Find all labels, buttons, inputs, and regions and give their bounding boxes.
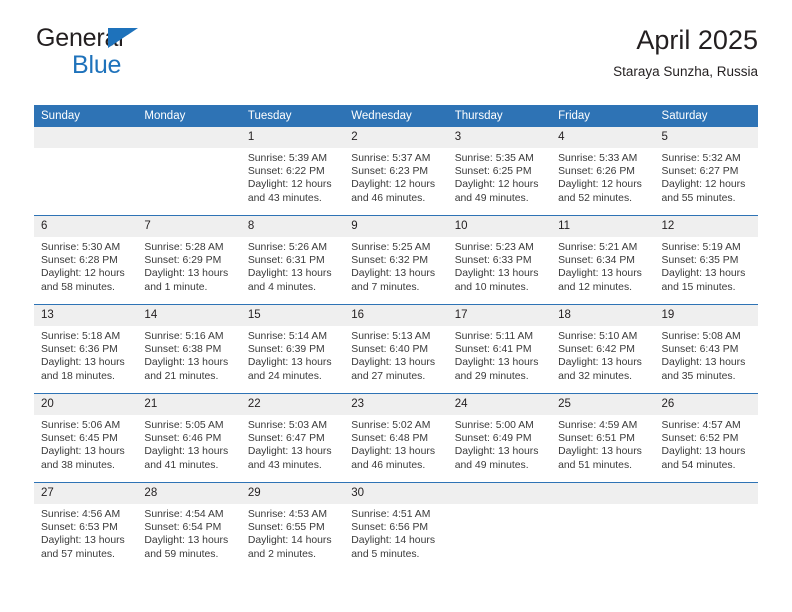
sunset-text: Sunset: 6:25 PM [455,165,543,178]
daylight-text-line1: Daylight: 13 hours [248,356,336,369]
day-number: 3 [448,127,551,148]
page-header: General Blue April 2025 Staraya Sunzha, … [34,0,758,78]
daylight-text-line2: and 52 minutes. [558,192,646,205]
day-sun-info: Sunrise: 4:57 AMSunset: 6:52 PMDaylight:… [655,415,758,472]
sunrise-text: Sunrise: 4:51 AM [351,508,439,521]
sunrise-text: Sunrise: 5:06 AM [41,419,129,432]
sunset-text: Sunset: 6:39 PM [248,343,336,356]
daylight-text-line2: and 27 minutes. [351,370,439,383]
daylight-text-line1: Daylight: 12 hours [351,178,439,191]
day-number: 10 [448,216,551,237]
sunset-text: Sunset: 6:22 PM [248,165,336,178]
sunrise-text: Sunrise: 4:57 AM [662,419,750,432]
sunset-text: Sunset: 6:56 PM [351,521,439,534]
day-sun-info: Sunrise: 5:39 AMSunset: 6:22 PMDaylight:… [241,148,344,205]
calendar-cell-empty [448,483,551,572]
sunset-text: Sunset: 6:36 PM [41,343,129,356]
sunrise-text: Sunrise: 5:11 AM [455,330,543,343]
calendar-cell-empty [551,483,654,572]
daylight-text-line2: and 55 minutes. [662,192,750,205]
daylight-text-line1: Daylight: 13 hours [41,445,129,458]
sunrise-text: Sunrise: 5:28 AM [144,241,232,254]
daylight-text-line2: and 2 minutes. [248,548,336,561]
sunrise-text: Sunrise: 5:25 AM [351,241,439,254]
calendar-day-cell[interactable]: 26Sunrise: 4:57 AMSunset: 6:52 PMDayligh… [655,394,758,483]
daylight-text-line1: Daylight: 13 hours [144,445,232,458]
daylight-text-line2: and 5 minutes. [351,548,439,561]
calendar-day-cell[interactable]: 21Sunrise: 5:05 AMSunset: 6:46 PMDayligh… [137,394,240,483]
calendar-day-cell[interactable]: 10Sunrise: 5:23 AMSunset: 6:33 PMDayligh… [448,216,551,305]
day-number: 22 [241,394,344,415]
day-number: 30 [344,483,447,504]
daylight-text-line1: Daylight: 13 hours [662,445,750,458]
calendar-day-cell[interactable]: 23Sunrise: 5:02 AMSunset: 6:48 PMDayligh… [344,394,447,483]
sunrise-sunset-calendar-table: Sunday Monday Tuesday Wednesday Thursday… [34,105,758,571]
daylight-text-line2: and 43 minutes. [248,459,336,472]
day-number: 16 [344,305,447,326]
calendar-day-cell[interactable]: 2Sunrise: 5:37 AMSunset: 6:23 PMDaylight… [344,127,447,216]
sunrise-text: Sunrise: 4:59 AM [558,419,646,432]
sunset-text: Sunset: 6:55 PM [248,521,336,534]
day-sun-info: Sunrise: 4:54 AMSunset: 6:54 PMDaylight:… [137,504,240,561]
sunrise-text: Sunrise: 5:14 AM [248,330,336,343]
sunrise-text: Sunrise: 5:32 AM [662,152,750,165]
day-number: 29 [241,483,344,504]
calendar-day-cell[interactable]: 17Sunrise: 5:11 AMSunset: 6:41 PMDayligh… [448,305,551,394]
day-number: 12 [655,216,758,237]
day-number: 5 [655,127,758,148]
daylight-text-line1: Daylight: 13 hours [351,356,439,369]
sunset-text: Sunset: 6:43 PM [662,343,750,356]
day-sun-info: Sunrise: 4:53 AMSunset: 6:55 PMDaylight:… [241,504,344,561]
sunrise-text: Sunrise: 4:54 AM [144,508,232,521]
day-sun-info: Sunrise: 5:11 AMSunset: 6:41 PMDaylight:… [448,326,551,383]
sunrise-text: Sunrise: 4:56 AM [41,508,129,521]
daylight-text-line1: Daylight: 12 hours [248,178,336,191]
day-sun-info: Sunrise: 5:13 AMSunset: 6:40 PMDaylight:… [344,326,447,383]
calendar-day-cell[interactable]: 12Sunrise: 5:19 AMSunset: 6:35 PMDayligh… [655,216,758,305]
calendar-day-cell[interactable]: 18Sunrise: 5:10 AMSunset: 6:42 PMDayligh… [551,305,654,394]
day-number [551,483,654,504]
daylight-text-line2: and 7 minutes. [351,281,439,294]
daylight-text-line2: and 46 minutes. [351,459,439,472]
sunset-text: Sunset: 6:38 PM [144,343,232,356]
day-sun-info: Sunrise: 5:18 AMSunset: 6:36 PMDaylight:… [34,326,137,383]
sunrise-text: Sunrise: 5:10 AM [558,330,646,343]
calendar-day-cell[interactable]: 5Sunrise: 5:32 AMSunset: 6:27 PMDaylight… [655,127,758,216]
daylight-text-line1: Daylight: 13 hours [351,445,439,458]
sunrise-text: Sunrise: 5:05 AM [144,419,232,432]
sunset-text: Sunset: 6:23 PM [351,165,439,178]
daylight-text-line2: and 32 minutes. [558,370,646,383]
sunset-text: Sunset: 6:42 PM [558,343,646,356]
sunrise-text: Sunrise: 5:18 AM [41,330,129,343]
daylight-text-line1: Daylight: 13 hours [662,356,750,369]
daylight-text-line1: Daylight: 12 hours [558,178,646,191]
calendar-day-cell[interactable]: 1Sunrise: 5:39 AMSunset: 6:22 PMDaylight… [241,127,344,216]
calendar-week-row: 27Sunrise: 4:56 AMSunset: 6:53 PMDayligh… [34,483,758,572]
daylight-text-line1: Daylight: 13 hours [41,534,129,547]
calendar-week-row: 6Sunrise: 5:30 AMSunset: 6:28 PMDaylight… [34,216,758,305]
day-sun-info: Sunrise: 5:23 AMSunset: 6:33 PMDaylight:… [448,237,551,294]
calendar-day-cell[interactable]: 13Sunrise: 5:18 AMSunset: 6:36 PMDayligh… [34,305,137,394]
day-number: 25 [551,394,654,415]
daylight-text-line2: and 38 minutes. [41,459,129,472]
day-sun-info: Sunrise: 4:59 AMSunset: 6:51 PMDaylight:… [551,415,654,472]
sunrise-text: Sunrise: 5:00 AM [455,419,543,432]
day-sun-info: Sunrise: 5:16 AMSunset: 6:38 PMDaylight:… [137,326,240,383]
day-sun-info: Sunrise: 5:14 AMSunset: 6:39 PMDaylight:… [241,326,344,383]
calendar-day-cell[interactable]: 24Sunrise: 5:00 AMSunset: 6:49 PMDayligh… [448,394,551,483]
page-subtitle: Staraya Sunzha, Russia [613,64,758,80]
day-number: 1 [241,127,344,148]
daylight-text-line2: and 10 minutes. [455,281,543,294]
daylight-text-line2: and 41 minutes. [144,459,232,472]
daylight-text-line1: Daylight: 12 hours [455,178,543,191]
calendar-day-cell[interactable]: 8Sunrise: 5:26 AMSunset: 6:31 PMDaylight… [241,216,344,305]
daylight-text-line1: Daylight: 13 hours [558,356,646,369]
day-number: 21 [137,394,240,415]
sunset-text: Sunset: 6:33 PM [455,254,543,267]
day-sun-info: Sunrise: 5:10 AMSunset: 6:42 PMDaylight:… [551,326,654,383]
daylight-text-line2: and 24 minutes. [248,370,336,383]
sunrise-text: Sunrise: 5:39 AM [248,152,336,165]
day-number: 8 [241,216,344,237]
column-header-thursday: Thursday [448,105,551,127]
sunset-text: Sunset: 6:45 PM [41,432,129,445]
day-sun-info: Sunrise: 4:56 AMSunset: 6:53 PMDaylight:… [34,504,137,561]
sunrise-text: Sunrise: 5:33 AM [558,152,646,165]
day-sun-info: Sunrise: 5:21 AMSunset: 6:34 PMDaylight:… [551,237,654,294]
day-number: 14 [137,305,240,326]
daylight-text-line2: and 54 minutes. [662,459,750,472]
title-block: April 2025 Staraya Sunzha, Russia [613,24,758,80]
day-sun-info: Sunrise: 5:28 AMSunset: 6:29 PMDaylight:… [137,237,240,294]
day-number: 19 [655,305,758,326]
calendar-week-row: 20Sunrise: 5:06 AMSunset: 6:45 PMDayligh… [34,394,758,483]
calendar-cell-empty [655,483,758,572]
calendar-day-cell[interactable]: 11Sunrise: 5:21 AMSunset: 6:34 PMDayligh… [551,216,654,305]
calendar-day-cell[interactable]: 19Sunrise: 5:08 AMSunset: 6:43 PMDayligh… [655,305,758,394]
calendar-page: General Blue April 2025 Staraya Sunzha, … [0,0,792,612]
daylight-text-line1: Daylight: 13 hours [558,267,646,280]
calendar-day-cell[interactable]: 27Sunrise: 4:56 AMSunset: 6:53 PMDayligh… [34,483,137,572]
calendar-day-cell[interactable]: 28Sunrise: 4:54 AMSunset: 6:54 PMDayligh… [137,483,240,572]
daylight-text-line1: Daylight: 12 hours [662,178,750,191]
daylight-text-line1: Daylight: 13 hours [558,445,646,458]
day-number: 18 [551,305,654,326]
day-sun-info: Sunrise: 5:00 AMSunset: 6:49 PMDaylight:… [448,415,551,472]
daylight-text-line2: and 59 minutes. [144,548,232,561]
calendar-body: 1Sunrise: 5:39 AMSunset: 6:22 PMDaylight… [34,127,758,571]
day-sun-info: Sunrise: 5:33 AMSunset: 6:26 PMDaylight:… [551,148,654,205]
daylight-text-line1: Daylight: 13 hours [455,356,543,369]
daylight-text-line1: Daylight: 13 hours [248,445,336,458]
sunset-text: Sunset: 6:32 PM [351,254,439,267]
day-number: 7 [137,216,240,237]
sunrise-text: Sunrise: 5:16 AM [144,330,232,343]
sunset-text: Sunset: 6:49 PM [455,432,543,445]
daylight-text-line2: and 15 minutes. [662,281,750,294]
daylight-text-line1: Daylight: 14 hours [351,534,439,547]
calendar-day-cell[interactable]: 30Sunrise: 4:51 AMSunset: 6:56 PMDayligh… [344,483,447,572]
day-number [34,127,137,148]
column-header-monday: Monday [137,105,240,127]
sunset-text: Sunset: 6:26 PM [558,165,646,178]
daylight-text-line2: and 57 minutes. [41,548,129,561]
sunrise-text: Sunrise: 5:02 AM [351,419,439,432]
daylight-text-line1: Daylight: 13 hours [248,267,336,280]
daylight-text-line1: Daylight: 13 hours [455,445,543,458]
sunset-text: Sunset: 6:46 PM [144,432,232,445]
day-number: 15 [241,305,344,326]
logo-triangle-icon [108,28,138,48]
daylight-text-line1: Daylight: 13 hours [144,267,232,280]
day-number: 20 [34,394,137,415]
sunrise-text: Sunrise: 5:19 AM [662,241,750,254]
day-sun-info: Sunrise: 5:03 AMSunset: 6:47 PMDaylight:… [241,415,344,472]
day-number [655,483,758,504]
sunrise-text: Sunrise: 5:23 AM [455,241,543,254]
sunrise-text: Sunrise: 5:13 AM [351,330,439,343]
day-number: 26 [655,394,758,415]
column-header-tuesday: Tuesday [241,105,344,127]
calendar-cell-empty [34,127,137,216]
daylight-text-line2: and 12 minutes. [558,281,646,294]
daylight-text-line2: and 51 minutes. [558,459,646,472]
daylight-text-line2: and 18 minutes. [41,370,129,383]
page-title: April 2025 [613,24,758,56]
daylight-text-line1: Daylight: 13 hours [144,534,232,547]
calendar-day-cell[interactable]: 29Sunrise: 4:53 AMSunset: 6:55 PMDayligh… [241,483,344,572]
sunrise-text: Sunrise: 5:03 AM [248,419,336,432]
daylight-text-line1: Daylight: 13 hours [455,267,543,280]
day-sun-info: Sunrise: 5:02 AMSunset: 6:48 PMDaylight:… [344,415,447,472]
daylight-text-line1: Daylight: 12 hours [41,267,129,280]
sunrise-text: Sunrise: 5:30 AM [41,241,129,254]
calendar-day-cell[interactable]: 3Sunrise: 5:35 AMSunset: 6:25 PMDaylight… [448,127,551,216]
sunset-text: Sunset: 6:53 PM [41,521,129,534]
general-blue-logo[interactable]: General Blue [36,26,236,78]
sunrise-text: Sunrise: 5:35 AM [455,152,543,165]
day-sun-info: Sunrise: 5:35 AMSunset: 6:25 PMDaylight:… [448,148,551,205]
sunrise-text: Sunrise: 5:37 AM [351,152,439,165]
sunset-text: Sunset: 6:35 PM [662,254,750,267]
sunset-text: Sunset: 6:47 PM [248,432,336,445]
day-sun-info: Sunrise: 5:32 AMSunset: 6:27 PMDaylight:… [655,148,758,205]
day-number: 11 [551,216,654,237]
daylight-text-line1: Daylight: 14 hours [248,534,336,547]
daylight-text-line2: and 49 minutes. [455,192,543,205]
day-number [448,483,551,504]
column-header-sunday: Sunday [34,105,137,127]
column-header-friday: Friday [551,105,654,127]
daylight-text-line2: and 4 minutes. [248,281,336,294]
day-number: 9 [344,216,447,237]
daylight-text-line1: Daylight: 13 hours [144,356,232,369]
daylight-text-line2: and 35 minutes. [662,370,750,383]
day-sun-info: Sunrise: 5:26 AMSunset: 6:31 PMDaylight:… [241,237,344,294]
day-sun-info: Sunrise: 5:05 AMSunset: 6:46 PMDaylight:… [137,415,240,472]
day-number: 27 [34,483,137,504]
column-header-saturday: Saturday [655,105,758,127]
day-sun-info: Sunrise: 4:51 AMSunset: 6:56 PMDaylight:… [344,504,447,561]
day-number: 13 [34,305,137,326]
calendar-week-row: 1Sunrise: 5:39 AMSunset: 6:22 PMDaylight… [34,127,758,216]
calendar-day-cell[interactable]: 25Sunrise: 4:59 AMSunset: 6:51 PMDayligh… [551,394,654,483]
daylight-text-line2: and 29 minutes. [455,370,543,383]
calendar-day-cell[interactable]: 7Sunrise: 5:28 AMSunset: 6:29 PMDaylight… [137,216,240,305]
day-number: 6 [34,216,137,237]
day-number: 23 [344,394,447,415]
sunset-text: Sunset: 6:31 PM [248,254,336,267]
day-number: 17 [448,305,551,326]
calendar-day-cell[interactable]: 20Sunrise: 5:06 AMSunset: 6:45 PMDayligh… [34,394,137,483]
calendar-day-cell[interactable]: 15Sunrise: 5:14 AMSunset: 6:39 PMDayligh… [241,305,344,394]
daylight-text-line2: and 21 minutes. [144,370,232,383]
daylight-text-line2: and 58 minutes. [41,281,129,294]
sunset-text: Sunset: 6:51 PM [558,432,646,445]
day-sun-info: Sunrise: 5:19 AMSunset: 6:35 PMDaylight:… [655,237,758,294]
calendar-day-cell[interactable]: 22Sunrise: 5:03 AMSunset: 6:47 PMDayligh… [241,394,344,483]
day-sun-info: Sunrise: 5:08 AMSunset: 6:43 PMDaylight:… [655,326,758,383]
calendar-day-cell[interactable]: 16Sunrise: 5:13 AMSunset: 6:40 PMDayligh… [344,305,447,394]
sunset-text: Sunset: 6:41 PM [455,343,543,356]
sunrise-text: Sunrise: 5:08 AM [662,330,750,343]
sunset-text: Sunset: 6:34 PM [558,254,646,267]
day-number: 4 [551,127,654,148]
day-sun-info: Sunrise: 5:30 AMSunset: 6:28 PMDaylight:… [34,237,137,294]
calendar-day-cell[interactable]: 6Sunrise: 5:30 AMSunset: 6:28 PMDaylight… [34,216,137,305]
sunset-text: Sunset: 6:28 PM [41,254,129,267]
day-number [137,127,240,148]
sunrise-text: Sunrise: 5:26 AM [248,241,336,254]
sunrise-text: Sunrise: 5:21 AM [558,241,646,254]
sunrise-text: Sunrise: 4:53 AM [248,508,336,521]
daylight-text-line1: Daylight: 13 hours [41,356,129,369]
day-sun-info: Sunrise: 5:37 AMSunset: 6:23 PMDaylight:… [344,148,447,205]
day-sun-info: Sunrise: 5:25 AMSunset: 6:32 PMDaylight:… [344,237,447,294]
daylight-text-line1: Daylight: 13 hours [662,267,750,280]
sunset-text: Sunset: 6:48 PM [351,432,439,445]
sunset-text: Sunset: 6:40 PM [351,343,439,356]
daylight-text-line2: and 46 minutes. [351,192,439,205]
sunset-text: Sunset: 6:52 PM [662,432,750,445]
daylight-text-line2: and 1 minute. [144,281,232,294]
calendar-cell-empty [137,127,240,216]
sunset-text: Sunset: 6:27 PM [662,165,750,178]
calendar-week-row: 13Sunrise: 5:18 AMSunset: 6:36 PMDayligh… [34,305,758,394]
daylight-text-line1: Daylight: 13 hours [351,267,439,280]
sunset-text: Sunset: 6:54 PM [144,521,232,534]
daylight-text-line2: and 49 minutes. [455,459,543,472]
calendar-day-cell[interactable]: 4Sunrise: 5:33 AMSunset: 6:26 PMDaylight… [551,127,654,216]
day-sun-info: Sunrise: 5:06 AMSunset: 6:45 PMDaylight:… [34,415,137,472]
day-number: 2 [344,127,447,148]
logo-word-blue: Blue [72,53,236,78]
day-number: 28 [137,483,240,504]
sunset-text: Sunset: 6:29 PM [144,254,232,267]
day-number: 24 [448,394,551,415]
column-header-wednesday: Wednesday [344,105,447,127]
weekday-header-row: Sunday Monday Tuesday Wednesday Thursday… [34,105,758,127]
daylight-text-line2: and 43 minutes. [248,192,336,205]
calendar-day-cell[interactable]: 9Sunrise: 5:25 AMSunset: 6:32 PMDaylight… [344,216,447,305]
calendar-day-cell[interactable]: 14Sunrise: 5:16 AMSunset: 6:38 PMDayligh… [137,305,240,394]
